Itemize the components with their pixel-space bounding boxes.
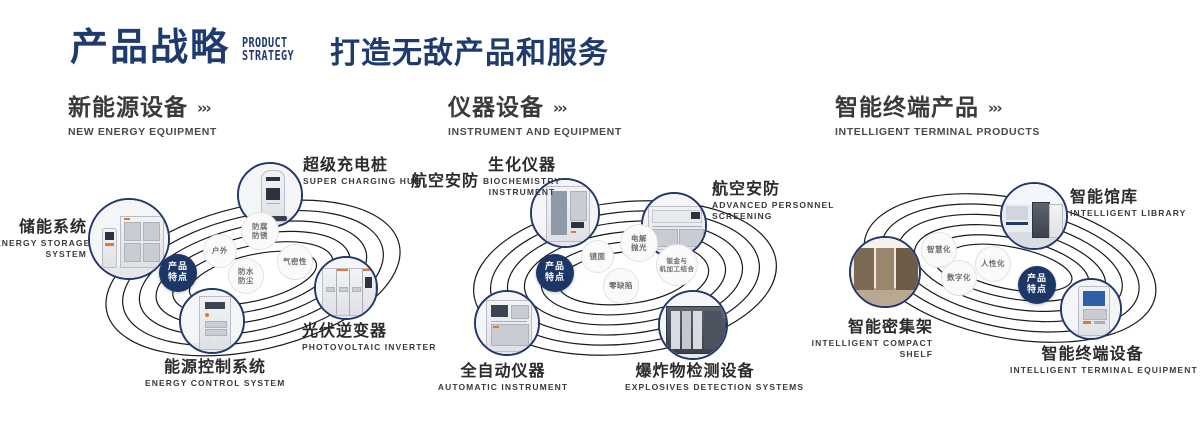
- node-intelligent-compact-shelf[interactable]: [849, 236, 921, 308]
- explosives-detection-systems-image: [660, 292, 726, 358]
- label-en-line1: BIOCHEMISTRY: [483, 176, 561, 186]
- label-cn: 智能终端设备: [1010, 345, 1175, 363]
- chip-core-product-features: 产品 特点: [536, 254, 574, 292]
- product-strategy-infographic: 产品战略 PRODUCT STRATEGY 打造无敌产品和服务 新能源设备 ››…: [0, 0, 1200, 422]
- chip-core-line2: 特点: [168, 273, 188, 284]
- chevron-right-icon: ›››: [553, 100, 566, 117]
- label-cn: 航空安防: [411, 172, 479, 190]
- section-title-intelligent: 智能终端产品 ››› INTELLIGENT TERMINAL PRODUCTS: [835, 96, 1040, 138]
- label-en: EXPLOSIVES DETECTION SYSTEMS: [625, 382, 765, 393]
- chip-label-line2: 机加工结合: [660, 265, 695, 273]
- label-super-charging-hub: 超级充电桩 SUPER CHARGING HUB: [303, 156, 422, 187]
- section-title-new-energy: 新能源设备 ››› NEW ENERGY EQUIPMENT: [68, 96, 217, 138]
- chip-label: 零缺陷: [609, 281, 633, 290]
- label-en: PHOTOVOLTAIC INVERTER: [302, 342, 437, 353]
- energy-control-system-image: [181, 290, 243, 352]
- label-cn: 智能馆库: [1070, 188, 1186, 206]
- node-intelligent-library[interactable]: [1000, 182, 1068, 250]
- chip-core-line1: 产品: [1027, 274, 1047, 285]
- label-cn: 能源控制系统: [145, 358, 285, 376]
- label-en-line1: ENERGY STORAGE: [0, 238, 90, 248]
- section-title-en: INSTRUMENT AND EQUIPMENT: [448, 126, 622, 138]
- label-energy-control-system: 能源控制系统 ENERGY CONTROL SYSTEM: [145, 358, 285, 389]
- cluster-instrument: 生化仪器 BIOCHEMISTRY INSTRUMENT 航空安防: [440, 150, 840, 400]
- chip-label: 气密性: [283, 257, 307, 266]
- chip-label-line2: 防尘: [238, 276, 254, 285]
- chip-sheet-metal-machining: 钣金与 机加工结合: [656, 244, 698, 286]
- label-intelligent-terminal-equipment: 智能终端设备 INTELLIGENT TERMINAL EQUIPMENT: [1010, 345, 1175, 376]
- label-en: INTELLIGENT LIBRARY: [1070, 208, 1186, 219]
- automatic-instrument-image: [476, 292, 538, 354]
- label-intelligent-library: 智能馆库 INTELLIGENT LIBRARY: [1070, 188, 1186, 219]
- section-title-cn: 新能源设备 ›››: [68, 96, 217, 121]
- label-cn: 智能密集架: [745, 318, 933, 336]
- label-biochemistry-instrument: 生化仪器 BIOCHEMISTRY INSTRUMENT: [462, 156, 582, 198]
- label-automatic-instrument: 全自动仪器 AUTOMATIC INSTRUMENT: [437, 362, 569, 393]
- label-cn: 爆炸物检测设备: [625, 362, 765, 380]
- node-energy-storage-system[interactable]: [88, 198, 170, 280]
- node-energy-control-system[interactable]: [179, 288, 245, 354]
- chip-label-line1: 防水: [238, 267, 254, 276]
- label-cn: 全自动仪器: [437, 362, 569, 380]
- chevron-right-icon: ›››: [988, 100, 1001, 117]
- label-cn: 生化仪器: [462, 156, 582, 174]
- label-energy-storage-system: 储能系统 ENERGY STORAGE SYSTEM: [0, 218, 87, 260]
- section-title-cn: 仪器设备 ›››: [448, 96, 622, 121]
- section-label: 智能终端产品: [835, 96, 979, 121]
- label-explosives-detection-systems: 爆炸物检测设备 EXPLOSIVES DETECTION SYSTEMS: [625, 362, 765, 393]
- intelligent-library-image: [1002, 184, 1066, 248]
- label-advanced-personnel-screening: 航空安防 ADVANCED PERSONNEL SCREENING: [712, 180, 835, 222]
- node-intelligent-terminal-equipment[interactable]: [1060, 278, 1122, 340]
- chip-electropolishing: 电解 抛光: [620, 224, 658, 262]
- node-explosives-detection-systems[interactable]: [658, 290, 728, 360]
- label-en: BIOCHEMISTRY INSTRUMENT: [462, 176, 582, 197]
- section-title-en: INTELLIGENT TERMINAL PRODUCTS: [835, 126, 1040, 138]
- photovoltaic-inverter-image: [316, 258, 376, 318]
- label-en-line2: SYSTEM: [45, 249, 87, 259]
- label-en-line2: SHELF: [900, 349, 933, 359]
- chip-label: 镜面: [590, 252, 606, 261]
- chip-label-line2: 防锈: [252, 231, 268, 240]
- node-photovoltaic-inverter[interactable]: [314, 256, 378, 320]
- chip-label: 智慧化: [927, 245, 951, 254]
- chip-zero-defect: 零缺陷: [603, 268, 639, 304]
- label-cn: 光伏逆变器: [302, 322, 437, 340]
- chip-waterproof-dustproof: 防水 防尘: [228, 258, 264, 294]
- chip-label-line2: 抛光: [631, 243, 647, 252]
- chip-digital: 数字化: [941, 260, 977, 296]
- label-cn: 航空安防: [712, 180, 835, 198]
- label-en: SUPER CHARGING HUB: [303, 176, 422, 187]
- chip-label: 户外: [212, 246, 228, 255]
- label-en-line1: ADVANCED PERSONNEL: [712, 200, 835, 210]
- chip-airtightness: 气密性: [277, 244, 313, 280]
- label-cn: 储能系统: [0, 218, 87, 236]
- chip-humanized: 人性化: [975, 246, 1011, 282]
- label-en: INTELLIGENT TERMINAL EQUIPMENT: [1010, 365, 1175, 376]
- chip-core-line1: 产品: [168, 262, 188, 273]
- label-aviation-security-side: 航空安防: [411, 172, 479, 190]
- chip-core-line2: 特点: [1027, 285, 1047, 296]
- intelligent-compact-shelf-image: [851, 238, 919, 306]
- page-title: 产品战略: [70, 28, 230, 66]
- chip-core-line2: 特点: [545, 273, 565, 284]
- chip-label: 人性化: [981, 259, 1005, 268]
- page-subtitle: 打造无敌产品和服务: [330, 36, 609, 72]
- chip-label-line1: 钣金与: [667, 257, 688, 265]
- page-title-en: PRODUCT STRATEGY: [242, 37, 294, 63]
- chip-core-product-features: 产品 特点: [1018, 266, 1056, 304]
- section-title-en: NEW ENERGY EQUIPMENT: [68, 126, 217, 138]
- section-label: 仪器设备: [448, 96, 544, 121]
- label-en: AUTOMATIC INSTRUMENT: [437, 382, 569, 393]
- chip-label: 数字化: [947, 273, 971, 282]
- section-label: 新能源设备: [68, 96, 188, 121]
- chip-mirror-finish: 镜面: [581, 240, 614, 273]
- chip-label-line1: 防腐: [252, 222, 268, 231]
- label-en: INTELLIGENT COMPACT SHELF: [745, 338, 933, 359]
- label-en: ENERGY CONTROL SYSTEM: [145, 378, 285, 389]
- energy-storage-system-image: [90, 200, 168, 278]
- section-title-instrument: 仪器设备 ››› INSTRUMENT AND EQUIPMENT: [448, 96, 622, 138]
- label-en-line1: INTELLIGENT COMPACT: [812, 338, 933, 348]
- cluster-intelligent: 智能馆库 INTELLIGENT LIBRARY 智能终端设备 INTELLIG…: [820, 150, 1200, 400]
- chevron-right-icon: ›››: [197, 100, 210, 117]
- label-en-line2: INSTRUMENT: [489, 187, 556, 197]
- section-title-cn: 智能终端产品 ›››: [835, 96, 1040, 121]
- node-automatic-instrument[interactable]: [474, 290, 540, 356]
- label-en: ENERGY STORAGE SYSTEM: [0, 238, 87, 259]
- page-title-en-line2: STRATEGY: [242, 50, 294, 63]
- label-en-line2: SCREENING: [712, 211, 772, 221]
- chip-core-line1: 产品: [545, 262, 565, 273]
- chip-label-line1: 电解: [631, 234, 647, 243]
- cluster-new-energy: 储能系统 ENERGY STORAGE SYSTEM 超级充电桩 SUPER C…: [55, 150, 455, 400]
- label-intelligent-compact-shelf: 智能密集架 INTELLIGENT COMPACT SHELF: [745, 318, 933, 360]
- intelligent-terminal-equipment-image: [1062, 280, 1120, 338]
- chip-core-product-features: 产品 特点: [159, 254, 197, 292]
- label-en: ADVANCED PERSONNEL SCREENING: [712, 200, 835, 221]
- page-header: 产品战略 PRODUCT STRATEGY: [70, 28, 309, 66]
- label-cn: 超级充电桩: [303, 156, 422, 174]
- chip-anticorrosion: 防腐 防锈: [241, 212, 279, 250]
- label-photovoltaic-inverter: 光伏逆变器 PHOTOVOLTAIC INVERTER: [302, 322, 437, 353]
